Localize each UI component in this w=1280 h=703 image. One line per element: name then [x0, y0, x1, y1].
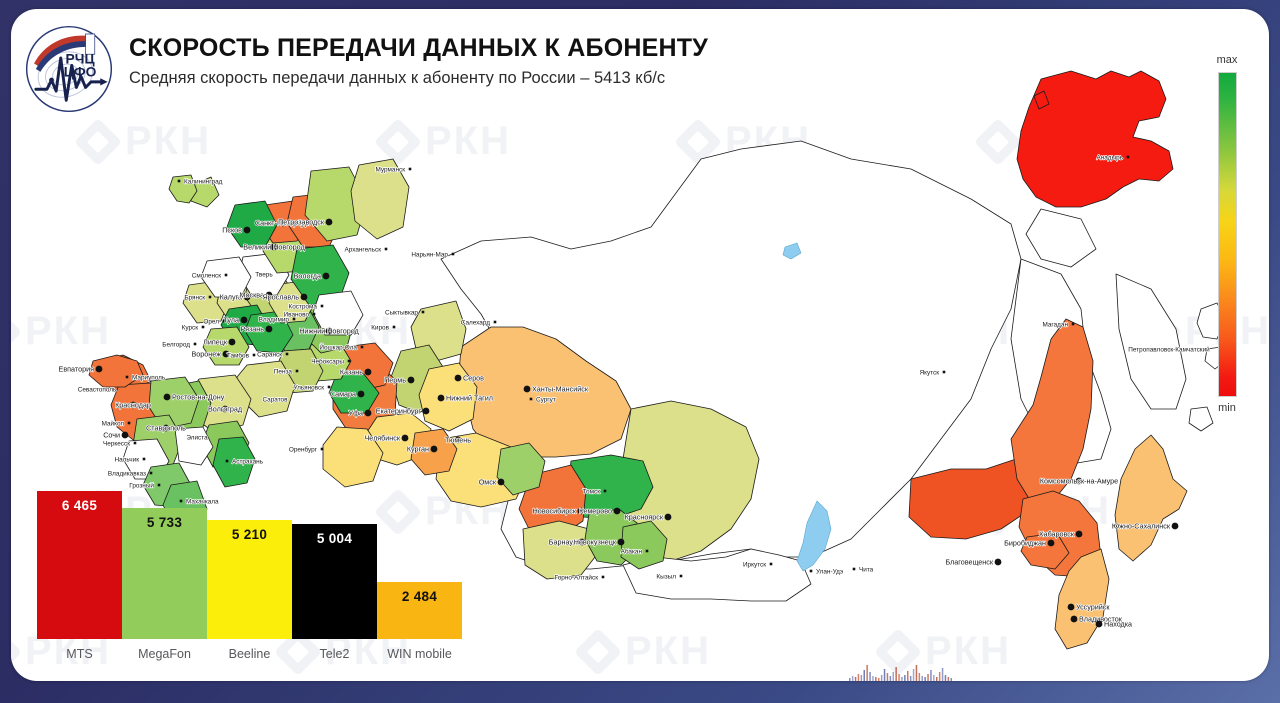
city-label: Нарьян-Мар: [411, 251, 448, 258]
map-city: Благовещенск: [945, 557, 1001, 566]
city-square-icon: [1072, 323, 1075, 326]
city-dot-icon: [524, 386, 531, 393]
city-dot-icon: [618, 539, 625, 546]
map-city: Улан-Удэ: [810, 568, 844, 575]
city-square-icon: [409, 168, 412, 171]
city-label: Сыктывкар: [385, 309, 418, 316]
map-city: Ханты-Мансийск: [524, 384, 589, 393]
axis-label-mts: MTS: [37, 647, 122, 661]
page-title: СКОРОСТЬ ПЕРЕДАЧИ ДАННЫХ К АБОНЕНТУ: [129, 35, 708, 63]
city-label: Чебоксары: [311, 357, 344, 365]
city-square-icon: [150, 472, 153, 475]
map-city: Севастополь: [78, 386, 117, 393]
city-dot-icon: [614, 508, 621, 515]
city-dot-icon: [1172, 523, 1179, 530]
city-label: Черкесск: [103, 440, 130, 447]
city-label: Комсомольск-на-Амуре: [1040, 476, 1118, 485]
bar-column: 6 465: [37, 491, 122, 639]
city-label: Элиста: [186, 434, 208, 441]
city-dot-icon: [323, 273, 330, 280]
city-label: Южно-Сахалинск: [1112, 521, 1171, 530]
map-city: Тамбов: [227, 351, 255, 359]
bar-tele2: 5 004: [292, 524, 377, 639]
bar-win-mobile: 2 484: [377, 582, 462, 639]
city-dot-icon: [408, 377, 415, 384]
city-dot-icon: [229, 339, 236, 346]
city-label: Пермь: [384, 375, 406, 384]
page-subtitle: Средняя скорость передачи данных к абоне…: [129, 69, 708, 88]
city-label: Хабаровск: [1039, 529, 1075, 538]
map-city: Элиста: [186, 434, 208, 441]
city-dot-icon: [96, 366, 103, 373]
city-label: Красноярск: [625, 512, 664, 521]
city-label: Тула: [223, 315, 239, 324]
map-city: Астрахань: [226, 458, 264, 465]
city-label: Ростов-на-Дону: [172, 392, 225, 401]
city-square-icon: [128, 422, 131, 425]
city-dot-icon: [402, 435, 409, 442]
city-label: Горно-Алтайск: [555, 573, 599, 581]
city-label: Серов: [463, 373, 484, 382]
bar-value-label: 5 004: [292, 531, 377, 546]
city-square-icon: [134, 442, 137, 445]
city-square-icon: [810, 570, 813, 573]
city-label: Орел: [203, 318, 219, 325]
city-square-icon: [452, 253, 455, 256]
city-square-icon: [194, 343, 197, 346]
city-dot-icon: [244, 227, 251, 234]
city-square-icon: [226, 460, 229, 463]
map-city: Ставрополь: [146, 423, 186, 432]
city-dot-icon: [365, 369, 372, 376]
map-city: Псков: [222, 225, 250, 234]
city-label: Волгоград: [208, 404, 243, 413]
city-square-icon: [286, 353, 289, 356]
city-square-icon: [385, 248, 388, 251]
legend-gradient-bar: [1218, 72, 1237, 397]
city-label: Псков: [222, 225, 242, 234]
city-square-icon: [253, 354, 256, 357]
map-city: Комсомольск-на-Амуре: [1040, 476, 1118, 485]
city-square-icon: [321, 448, 324, 451]
map-city: Оренбург: [289, 445, 323, 453]
axis-label-win-mobile: WIN mobile: [377, 647, 462, 661]
city-label: Брянск: [184, 294, 205, 301]
map-city: Мариуполь: [126, 374, 166, 381]
city-label: Саратов: [262, 396, 288, 403]
map-city: Архангельск: [344, 246, 387, 253]
city-label: Курган: [407, 444, 429, 453]
city-label: Уфа: [349, 408, 363, 417]
city-dot-icon: [431, 446, 438, 453]
slide-frame: РКН РКН РКН РКН РКН РКН РКН РКН РКН РКН …: [0, 0, 1280, 703]
city-square-icon: [313, 313, 316, 316]
map-city: Владикавказ: [108, 470, 152, 477]
city-square-icon: [604, 490, 607, 493]
map-city: Уфа: [349, 408, 372, 417]
city-label: Оренбург: [289, 445, 318, 453]
map-city: Петропавловск-Камчатский: [1128, 345, 1210, 353]
city-square-icon: [321, 305, 324, 308]
rchc-cfo-logo: РЧЦ ЦФО: [23, 23, 115, 115]
city-label: Москва: [239, 290, 264, 299]
color-scale-legend: max min: [1207, 55, 1247, 414]
city-label: Петрозаводск: [278, 217, 325, 226]
city-square-icon: [602, 576, 605, 579]
city-label: Великий Новгород: [243, 242, 305, 251]
slide-header: РЧЦ ЦФО СКОРОСТЬ ПЕРЕДАЧИ ДАННЫХ К АБОНЕ…: [11, 9, 708, 115]
bar-value-label: 2 484: [377, 589, 462, 604]
city-dot-icon: [455, 375, 462, 382]
city-label: Владикавказ: [108, 470, 146, 477]
city-square-icon: [646, 550, 649, 553]
city-dot-icon: [241, 317, 248, 324]
city-label: Чита: [859, 566, 874, 573]
city-dot-icon: [995, 559, 1002, 566]
city-label: Петропавловск-Камчатский: [1128, 345, 1210, 353]
city-label: Нальчик: [115, 456, 140, 463]
city-label: Екатеринбург: [376, 406, 422, 415]
map-city: Горно-Алтайск: [555, 573, 605, 581]
axis-label-beeline: Beeline: [207, 647, 292, 661]
bar-column: 5 004: [292, 491, 377, 639]
bar-chart-axis-labels: MTSMegaFonBeelineTele2WIN mobile: [37, 641, 462, 667]
city-label: Липецк: [203, 337, 228, 346]
map-city: Калининград: [178, 178, 223, 185]
slide-card: РКН РКН РКН РКН РКН РКН РКН РКН РКН РКН …: [11, 9, 1269, 681]
map-city: Омск: [479, 477, 505, 486]
city-label: Анадырь: [1096, 154, 1123, 161]
map-city: Тверь: [255, 271, 273, 278]
city-square-icon: [293, 318, 296, 321]
city-label: Мариуполь: [132, 374, 166, 381]
operator-speed-bar-chart: 6 4655 7335 2105 0042 484 MTSMegaFonBeel…: [37, 487, 462, 667]
city-label: Сургут: [536, 396, 556, 403]
map-city: Мурманск: [375, 166, 411, 173]
city-label: Благовещенск: [945, 557, 993, 566]
city-dot-icon: [122, 432, 129, 439]
map-city: Курск: [182, 324, 205, 331]
city-square-icon: [178, 180, 181, 183]
legend-max-label: max: [1207, 55, 1247, 66]
city-label: Кострома: [289, 303, 318, 310]
city-label: Находка: [1104, 619, 1132, 628]
city-square-icon: [422, 311, 425, 314]
city-label: Магадан: [1042, 321, 1068, 328]
city-square-icon: [225, 274, 228, 277]
city-dot-icon: [1048, 540, 1055, 547]
map-city: Нарьян-Мар: [411, 251, 454, 258]
city-square-icon: [494, 321, 497, 324]
map-city: Великий Новгород: [243, 242, 305, 251]
city-label: Томск: [583, 488, 601, 495]
map-city: Чита: [853, 566, 874, 573]
bar-value-label: 5 733: [122, 515, 207, 530]
city-label: Краснодар: [115, 400, 151, 409]
legend-min-label: min: [1207, 403, 1247, 414]
map-city: Южно-Сахалинск: [1112, 521, 1179, 530]
map-city: Нижний Новгород: [299, 326, 359, 335]
city-label: Астрахань: [232, 458, 264, 465]
city-label: Курск: [182, 324, 199, 331]
logo-text-line2: ЦФО: [64, 64, 97, 79]
city-square-icon: [530, 398, 533, 401]
city-label: Смоленск: [192, 272, 221, 279]
map-city: Нижний Тагил: [438, 393, 493, 402]
city-label: Кызыл: [656, 573, 676, 580]
city-label: Улан-Удэ: [816, 568, 843, 575]
city-label: Севастополь: [78, 386, 117, 393]
map-city: Сочи: [103, 430, 128, 439]
city-label: Йошкар-Ола: [319, 342, 357, 351]
city-label: Ульяновск: [293, 384, 324, 391]
city-square-icon: [361, 346, 364, 349]
city-label: Киров: [371, 324, 389, 331]
city-label: Рязань: [241, 324, 265, 333]
city-dot-icon: [665, 514, 672, 521]
city-label: Тюмень: [445, 435, 471, 444]
city-label: Ставрополь: [146, 423, 186, 432]
city-label: Абакан: [621, 547, 643, 555]
city-square-icon: [348, 360, 351, 363]
city-label: Кемерово: [579, 506, 612, 515]
city-dot-icon: [326, 219, 333, 226]
header-titles: СКОРОСТЬ ПЕРЕДАЧИ ДАННЫХ К АБОНЕНТУ Сред…: [129, 23, 708, 87]
city-dot-icon: [358, 391, 365, 398]
city-square-icon: [393, 326, 396, 329]
city-square-icon: [770, 563, 773, 566]
bar-column: 5 210: [207, 491, 292, 639]
bar-value-label: 6 465: [37, 498, 122, 513]
bar-column: 2 484: [377, 491, 462, 639]
city-label: Ханты-Мансийск: [532, 384, 589, 393]
city-label: Новокузнецк: [574, 537, 617, 546]
city-label: Мурманск: [375, 166, 405, 173]
city-square-icon: [158, 484, 161, 487]
city-dot-icon: [1071, 616, 1078, 623]
city-label: Ярославль: [262, 292, 299, 301]
map-city: Тюмень: [445, 435, 471, 444]
city-dot-icon: [1096, 621, 1103, 628]
bar-chart-bars: 6 4655 7335 2105 0042 484: [37, 491, 462, 639]
map-city: Ульяновск: [293, 384, 330, 391]
city-label: Биробиджан: [1004, 538, 1046, 547]
city-label: Пенза: [274, 368, 293, 375]
city-dot-icon: [301, 294, 308, 301]
axis-label-tele2: Tele2: [292, 647, 377, 661]
city-label: Омск: [479, 477, 497, 486]
city-label: Вологда: [294, 271, 321, 280]
map-city: Киров: [371, 324, 395, 331]
city-label: Салехард: [461, 319, 490, 326]
bar-value-label: 5 210: [207, 527, 292, 542]
map-city: Саратов: [262, 396, 288, 403]
city-label: Владимир: [259, 316, 290, 323]
city-dot-icon: [266, 326, 273, 333]
map-city: Йошкар-Ола: [319, 342, 363, 351]
city-label: Самара: [330, 389, 356, 398]
city-label: Архангельск: [344, 246, 381, 253]
city-dot-icon: [498, 479, 505, 486]
city-label: Евпатория: [59, 364, 95, 373]
city-label: Иркутск: [743, 561, 766, 568]
map-city: Тула: [223, 315, 247, 324]
city-square-icon: [1127, 156, 1130, 159]
map-city: Краснодар: [115, 400, 151, 409]
city-label: Новосибирск: [533, 506, 577, 515]
map-city: Ростов-на-Дону: [164, 392, 225, 401]
city-label: Воронеж: [192, 349, 222, 358]
bar-beeline: 5 210: [207, 520, 292, 639]
city-label: Сочи: [103, 430, 120, 439]
city-dot-icon: [365, 410, 372, 417]
city-square-icon: [328, 386, 331, 389]
map-city: Волгоград: [208, 404, 243, 413]
city-dot-icon: [1068, 604, 1075, 611]
city-label: Майкоп: [102, 419, 125, 427]
bar-megafon: 5 733: [122, 508, 207, 639]
city-square-icon: [209, 296, 212, 299]
city-label: Челябинск: [365, 433, 401, 442]
bar-column: 5 733: [122, 491, 207, 639]
bar-mts: 6 465: [37, 491, 122, 639]
city-label: Саранск: [257, 351, 282, 358]
city-dot-icon: [423, 408, 430, 415]
city-square-icon: [126, 376, 129, 379]
city-square-icon: [680, 575, 683, 578]
city-dot-icon: [438, 395, 445, 402]
axis-label-megafon: MegaFon: [122, 647, 207, 661]
city-label: Казань: [340, 367, 363, 376]
city-label: Уссурийск: [1076, 602, 1110, 611]
city-label: Якутск: [919, 369, 939, 376]
city-square-icon: [202, 326, 205, 329]
city-square-icon: [853, 568, 856, 571]
logo-svg: РЧЦ ЦФО: [23, 23, 115, 115]
city-label: Калининград: [184, 178, 223, 185]
city-label: Тамбов: [227, 351, 250, 359]
city-label: Нижний Тагил: [446, 393, 493, 402]
city-label: Белгород: [162, 341, 190, 348]
city-square-icon: [296, 370, 299, 373]
city-square-icon: [143, 458, 146, 461]
city-dot-icon: [164, 394, 171, 401]
city-label: Тверь: [255, 271, 273, 278]
city-square-icon: [943, 371, 946, 374]
map-city: Белгород: [162, 341, 196, 348]
city-dot-icon: [1076, 531, 1083, 538]
city-label: Нижний Новгород: [299, 326, 359, 335]
